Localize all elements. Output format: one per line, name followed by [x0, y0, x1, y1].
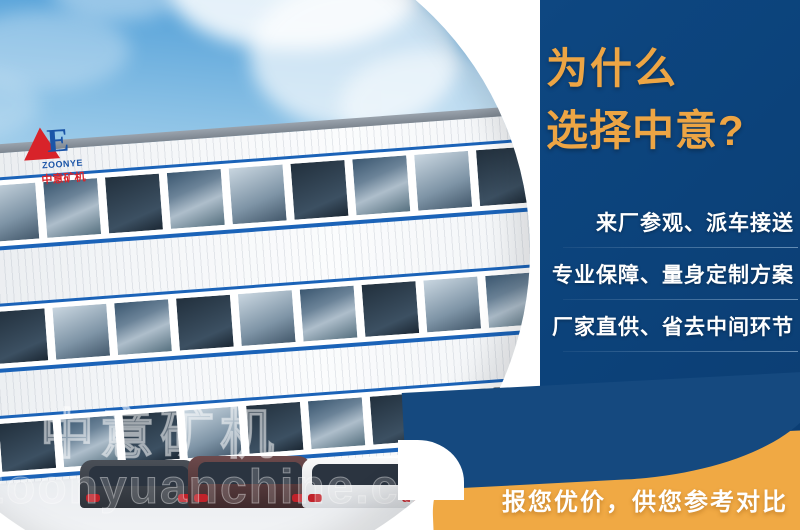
window-pane	[165, 167, 227, 231]
window-pane	[244, 400, 306, 456]
window-pane	[421, 274, 483, 334]
window-pane	[236, 288, 298, 348]
parked-car	[188, 456, 312, 508]
window-pane	[0, 306, 50, 366]
window-pane	[298, 283, 360, 343]
window-pane	[174, 293, 236, 353]
car-taillight	[308, 494, 322, 502]
window-pane	[306, 395, 368, 451]
window-pane	[120, 409, 182, 465]
window-pane	[50, 302, 112, 362]
window-pane	[474, 144, 530, 208]
window-pane	[412, 149, 474, 213]
feature-item-2: 专业保障、量身定制方案	[536, 248, 798, 300]
promo-banner: E ZOONYE 中意矿机	[0, 0, 800, 530]
page-title: 为什么 选择中意?	[546, 38, 796, 162]
zoonye-logo: E ZOONYE 中意矿机	[18, 123, 106, 191]
window-pane	[483, 270, 530, 330]
logo-letter-e: E	[46, 125, 70, 159]
parked-car	[80, 460, 198, 508]
car-window	[89, 466, 188, 486]
window-pane	[227, 162, 289, 226]
feature-item-1: 来厂参观、派车接送	[536, 196, 798, 248]
headline-line-1: 为什么	[546, 38, 796, 100]
headline-line-2: 选择中意?	[546, 100, 796, 162]
window-pane	[0, 418, 58, 474]
window-pane	[182, 404, 244, 460]
feature-list: 来厂参观、派车接送 专业保障、量身定制方案 厂家直供、省去中间环节	[536, 196, 798, 352]
cloud-shape	[0, 10, 130, 90]
window-pane	[288, 158, 350, 222]
window-pane	[103, 171, 165, 235]
window-pane	[350, 153, 412, 217]
car-taillight	[194, 494, 208, 502]
window-pane	[112, 297, 174, 357]
feature-item-3: 厂家直供、省去中间环节	[536, 300, 798, 352]
window-pane	[359, 279, 421, 339]
window-pane	[0, 181, 41, 245]
car-window	[198, 462, 302, 484]
car-taillight	[86, 494, 100, 502]
cta-text: 报您优价，供您参考对比	[490, 482, 800, 517]
